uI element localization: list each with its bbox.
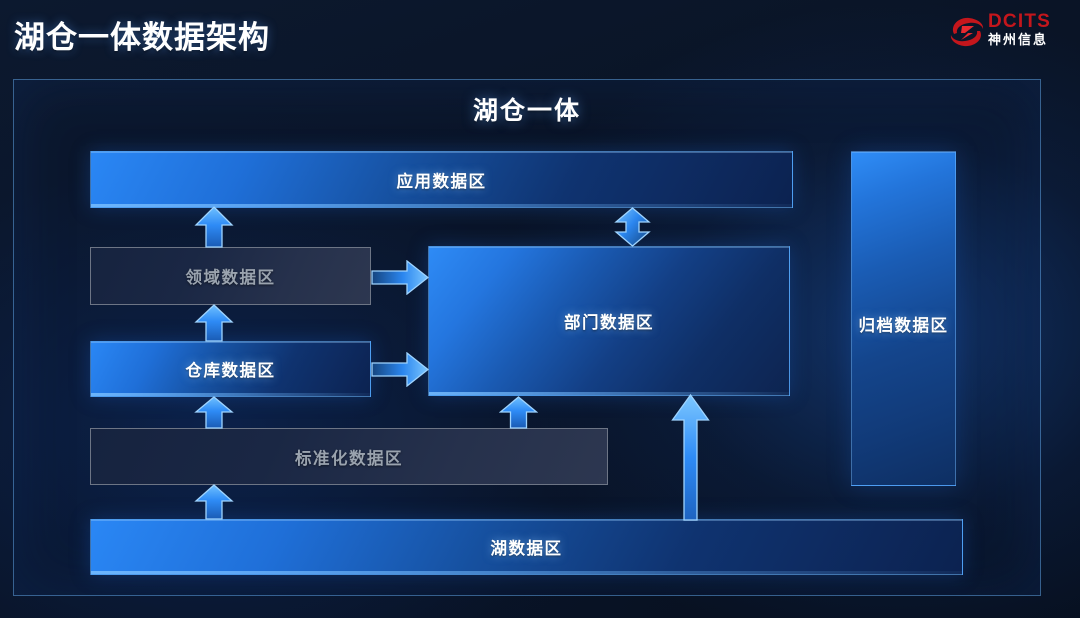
arrow-standardized-to-warehouse: [194, 396, 234, 429]
block-standardized-data-zone-label: 标准化数据区: [295, 445, 403, 469]
block-app-data-zone-label: 应用数据区: [397, 168, 487, 192]
block-department-data-zone[interactable]: 部门数据区: [428, 246, 790, 396]
page-title: 湖仓一体数据架构: [14, 12, 270, 57]
logo-text-cn: 神州信息: [988, 32, 1051, 48]
logo-text-en: DCITS: [988, 12, 1051, 32]
block-lake-data-zone[interactable]: 湖数据区: [90, 519, 963, 575]
block-warehouse-data-zone[interactable]: 仓库数据区: [90, 341, 371, 397]
arrow-domain-to-department: [371, 260, 429, 295]
arrow-warehouse-to-department: [371, 352, 429, 387]
arrow-warehouse-to-domain: [194, 304, 234, 342]
logo-wordmark: DCITS 神州信息: [988, 12, 1051, 48]
slide-root: 湖仓一体数据架构 DCITS 神州信息 湖仓一体 应用数据区 领域数据区 仓库数…: [0, 0, 1080, 618]
arrow-lake-to-department: [671, 394, 710, 521]
dcits-swirl-icon: [948, 14, 986, 50]
arrow-lake-to-standardized: [194, 484, 234, 520]
block-archive-data-zone-label: 归档数据区: [859, 312, 949, 336]
block-archive-data-zone[interactable]: 归档数据区: [851, 151, 956, 486]
arrow-app-department-bidirectional: [613, 207, 652, 247]
arrow-standardized-to-department: [499, 396, 538, 429]
arrow-domain-to-app: [194, 206, 234, 248]
dcits-logo: DCITS 神州信息: [948, 8, 1066, 56]
block-department-data-zone-label: 部门数据区: [564, 309, 654, 333]
block-standardized-data-zone[interactable]: 标准化数据区: [90, 428, 608, 485]
block-domain-data-zone[interactable]: 领域数据区: [90, 247, 371, 305]
block-lake-data-zone-label: 湖数据区: [491, 535, 563, 559]
block-app-data-zone[interactable]: 应用数据区: [90, 151, 793, 208]
diagram-title: 湖仓一体: [14, 91, 1040, 127]
diagram-container: 湖仓一体 应用数据区 领域数据区 仓库数据区 标准化数据区 湖数据区 部门数据区…: [13, 79, 1041, 596]
block-warehouse-data-zone-label: 仓库数据区: [186, 357, 276, 381]
block-domain-data-zone-label: 领域数据区: [186, 264, 276, 288]
